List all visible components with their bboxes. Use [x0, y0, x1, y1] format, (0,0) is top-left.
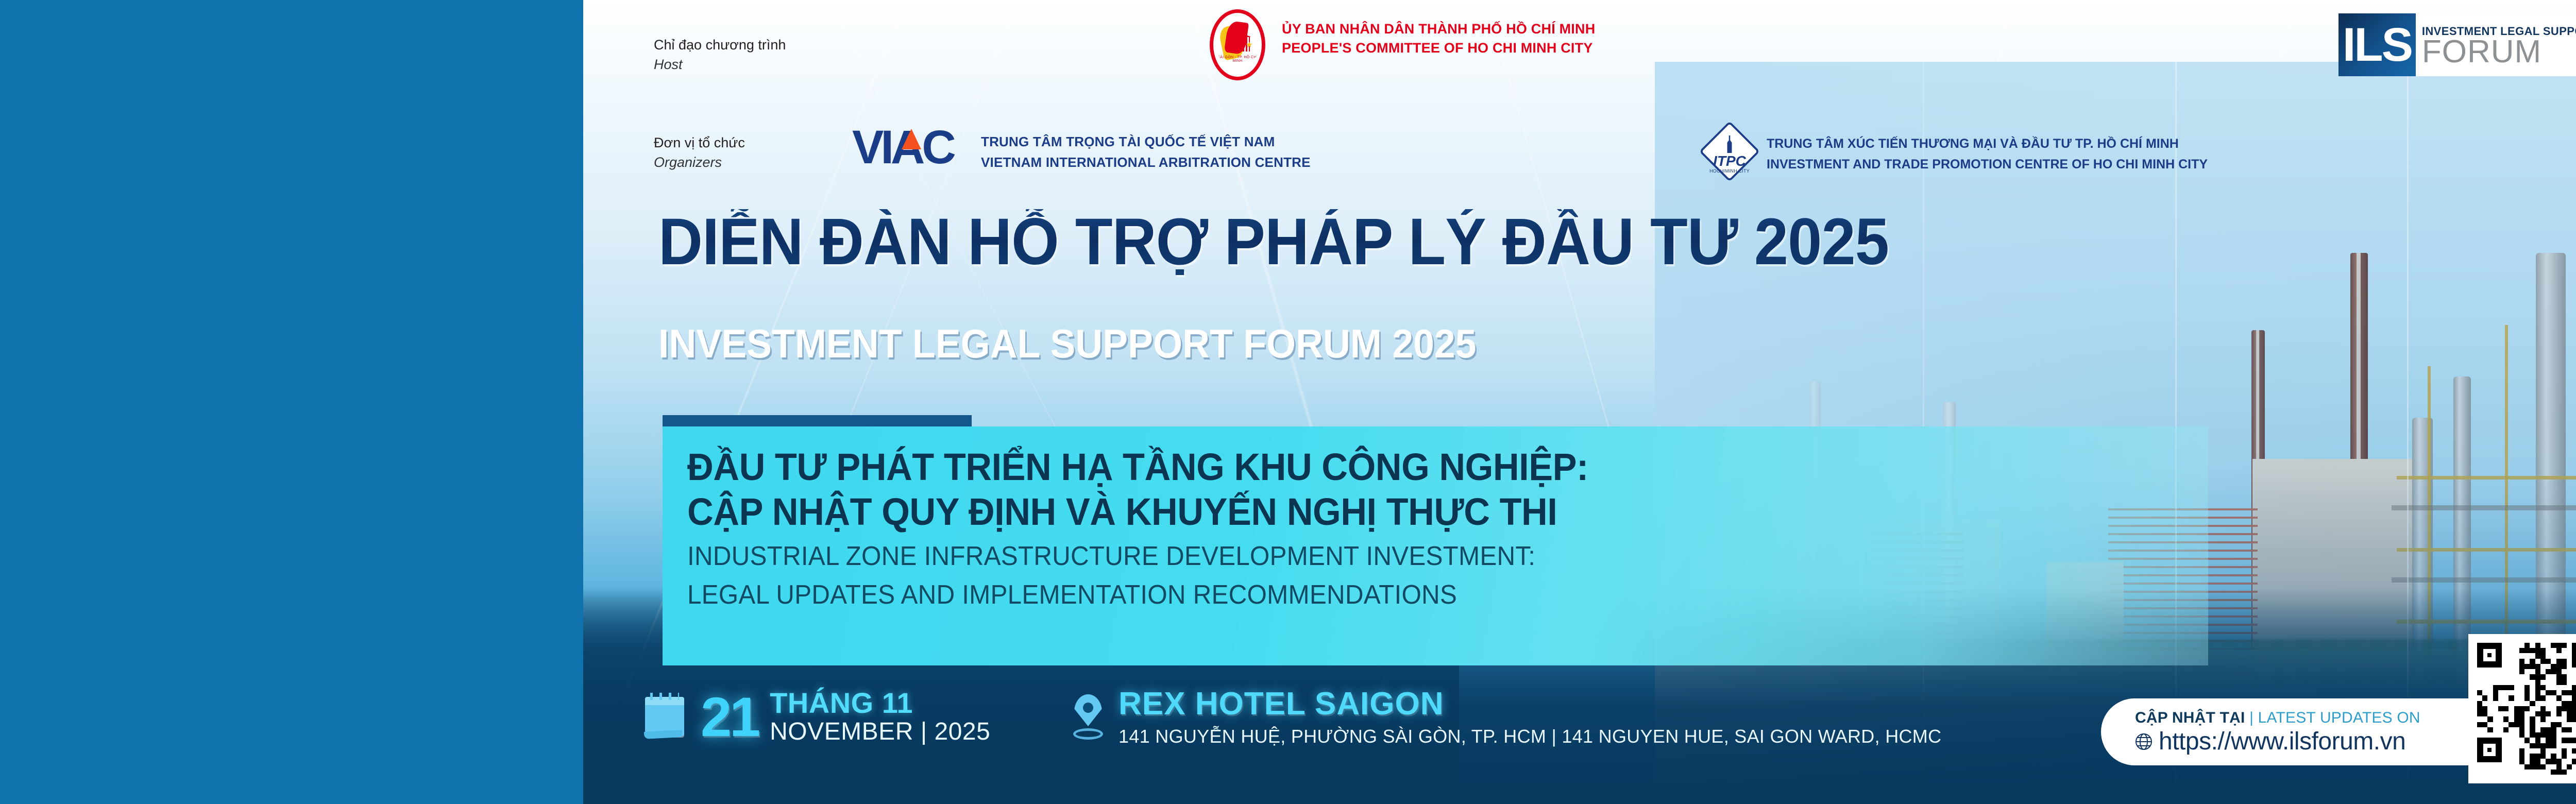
topic-panel-body: ĐẦU TƯ PHÁT TRIỂN HẠ TẦNG KHU CÔNG NGHIỆ…	[663, 426, 2208, 665]
updates-url[interactable]: https://www.ilsforum.vn	[2159, 729, 2405, 754]
organizers-label: Đơn vị tổ chức Organizers	[654, 133, 745, 173]
globe-icon	[2135, 733, 2153, 750]
topic-panel: ĐẦU TƯ PHÁT TRIỂN HẠ TẦNG KHU CÔNG NGHIỆ…	[663, 415, 2208, 665]
ils-monogram: ILS	[2338, 13, 2416, 76]
qr-code[interactable]	[2468, 634, 2576, 783]
location-pin-icon	[1069, 692, 1107, 742]
host-label-vi: Chỉ đạo chương trình	[654, 35, 786, 55]
ils-forum-word: FORUM	[2422, 38, 2576, 65]
seal-caption: SÀI GÒN - TP. HỒ CHÍ MINH	[1217, 56, 1258, 63]
itpc-diamond-icon: ITPC HOCHIMINH CITY	[1703, 121, 1756, 189]
topic-vi-line2: CẬP NHẬT QUY ĐỊNH VÀ KHUYẾN NGHỊ THỰC TH…	[687, 490, 2122, 535]
ils-monogram-text: ILS	[2343, 21, 2412, 69]
people-committee-seal-icon: ★ SÀI GÒN - TP. HỒ CHÍ MINH	[1210, 9, 1265, 80]
topic-panel-cap	[663, 415, 972, 426]
event-month-vi: THÁNG 11	[770, 688, 990, 717]
topic-vi-line1: ĐẦU TƯ PHÁT TRIỂN HẠ TẦNG KHU CÔNG NGHIỆ…	[687, 445, 2122, 490]
left-blue-band	[0, 0, 583, 804]
itpc-name-en: INVESTMENT AND TRADE PROMOTION CENTRE OF…	[1767, 155, 2208, 175]
calendar-icon	[643, 693, 687, 740]
host-label-en: Host	[654, 55, 786, 74]
event-month-en: NOVEMBER | 2025	[770, 720, 990, 745]
organizers-label-en: Organizers	[654, 152, 745, 172]
venue-address: 141 NGUYỄN HUỆ, PHƯỜNG SÀI GÒN, TP. HCM …	[1118, 727, 1941, 746]
itpc-tower-icon	[1725, 135, 1734, 153]
people-committee-name-vi: ỦY BAN NHÂN DÂN THÀNH PHỐ HỒ CHÍ MINH	[1282, 20, 1595, 39]
event-date: 21 THÁNG 11 NOVEMBER | 2025	[643, 688, 990, 745]
event-day: 21	[701, 692, 758, 741]
host-label: Chỉ đạo chương trình Host	[654, 35, 786, 75]
topic-en-line2: LEGAL UPDATES AND IMPLEMENTATION RECOMME…	[687, 579, 2122, 611]
forum-title-vi: DIỄN ĐÀN HỖ TRỢ PHÁP LÝ ĐẦU TƯ 2025	[658, 209, 1889, 275]
people-committee-name-en: PEOPLE'S COMMITTEE OF HO CHI MINH CITY	[1282, 39, 1595, 58]
viac-name: TRUNG TÂM TRỌNG TÀI QUỐC TẾ VIỆT NAM VIE…	[981, 132, 1311, 173]
venue-name: REX HOTEL SAIGON	[1118, 688, 1941, 720]
itpc-abbr: ITPC	[1713, 154, 1746, 168]
viac-wordmark-icon: VIAC	[852, 126, 975, 170]
viac-name-en: VIETNAM INTERNATIONAL ARBITRATION CENTRE	[981, 152, 1311, 173]
itpc-logo: ITPC HOCHIMINH CITY TRUNG TÂM XÚC TIẾN T…	[1703, 121, 1756, 189]
itpc-name: TRUNG TÂM XÚC TIẾN THƯƠNG MẠI VÀ ĐẦU TƯ …	[1767, 134, 2208, 175]
itpc-city: HOCHIMINH CITY	[1709, 168, 1750, 174]
event-banner: Chỉ đạo chương trình Host ★ SÀI GÒN - TP…	[0, 0, 2576, 804]
updates-pill: CẬP NHẬT TẠI | LATEST UPDATES ON https:/…	[2101, 698, 2482, 765]
organizers-label-vi: Đơn vị tổ chức	[654, 133, 745, 152]
updates-label-en: LATEST UPDATES ON	[2258, 709, 2420, 726]
viac-logo: VIAC TRUNG TÂM TRỌNG TÀI QUỐC TẾ VIỆT NA…	[852, 126, 975, 170]
forum-title-en: INVESTMENT LEGAL SUPPORT FORUM 2025	[658, 323, 1476, 364]
people-committee-name: ỦY BAN NHÂN DÂN THÀNH PHỐ HỒ CHÍ MINH PE…	[1282, 20, 1595, 58]
updates-label-vi: CẬP NHẬT TẠI	[2135, 709, 2245, 726]
updates-label: CẬP NHẬT TẠI | LATEST UPDATES ON	[2135, 710, 2482, 726]
topic-en-line1: INDUSTRIAL ZONE INFRASTRUCTURE DEVELOPME…	[687, 540, 2122, 572]
ils-forum-logo: ILS INVESTMENT LEGAL SUPPORT FORUM 2025	[2338, 13, 2576, 76]
event-venue: REX HOTEL SAIGON 141 NGUYỄN HUỆ, PHƯỜNG …	[1069, 688, 1941, 746]
updates-separator: |	[2249, 709, 2253, 726]
viac-name-vi: TRUNG TÂM TRỌNG TÀI QUỐC TẾ VIỆT NAM	[981, 132, 1311, 152]
itpc-name-vi: TRUNG TÂM XÚC TIẾN THƯƠNG MẠI VÀ ĐẦU TƯ …	[1767, 134, 2208, 155]
